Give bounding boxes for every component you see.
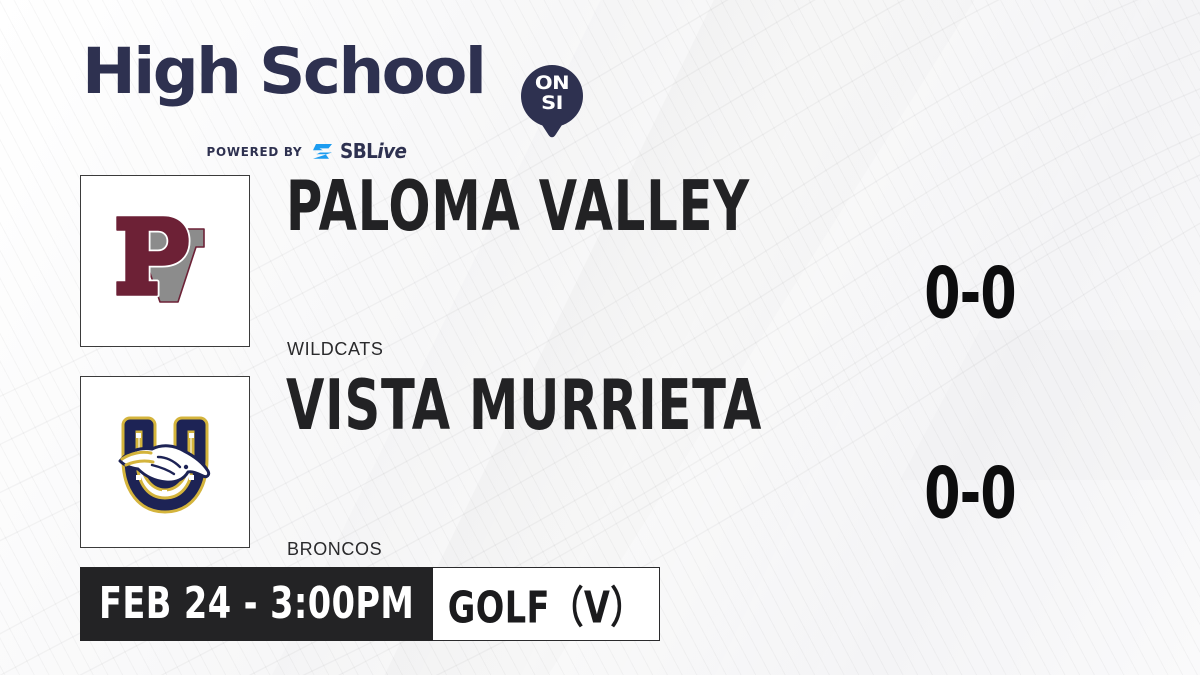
home-team-logo-box	[80, 376, 250, 548]
event-datetime-block: FEB 24 - 3:00PM	[80, 567, 433, 641]
powered-by-row: POWERED BY SBLive	[204, 141, 412, 161]
on-si-pin-icon: ON SI	[521, 65, 583, 149]
event-info-bar: FEB 24 - 3:00PM GOLF（V）	[80, 567, 660, 641]
paloma-valley-pv-logo-icon	[100, 196, 230, 326]
pin-label-si: SI	[518, 93, 586, 113]
pin-label-on: ON	[518, 73, 586, 93]
sblive-bold-part: SBL	[340, 139, 377, 163]
away-team-mascot: WILDCATS	[287, 339, 383, 360]
brand-header: High School ON SI POWERED BY SBLive	[82, 34, 512, 134]
sblive-wordmark: SBLive	[340, 139, 406, 163]
sblive-s-mark-icon	[312, 143, 333, 160]
matchup-graphic: High School ON SI POWERED BY SBLive	[0, 0, 1200, 675]
away-team-record: 0-0	[886, 258, 1054, 329]
event-sport-label: GOLF（V）	[448, 573, 645, 636]
event-sport-block: GOLF（V）	[433, 567, 660, 641]
home-team-record: 0-0	[886, 458, 1054, 529]
vista-murrieta-horseshoe-bronco-logo-icon	[100, 397, 230, 527]
event-datetime-label: FEB 24 - 3:00PM	[99, 579, 414, 629]
away-team-logo-box	[80, 175, 250, 347]
brand-title: High School	[82, 40, 484, 103]
away-team-name: PALOMA VALLEY	[286, 172, 750, 241]
home-team-mascot: BRONCOS	[287, 539, 382, 560]
sblive-italic-part: ive	[377, 139, 406, 163]
powered-by-label: POWERED BY	[207, 144, 303, 159]
home-team-name: VISTA MURRIETA	[286, 371, 762, 440]
